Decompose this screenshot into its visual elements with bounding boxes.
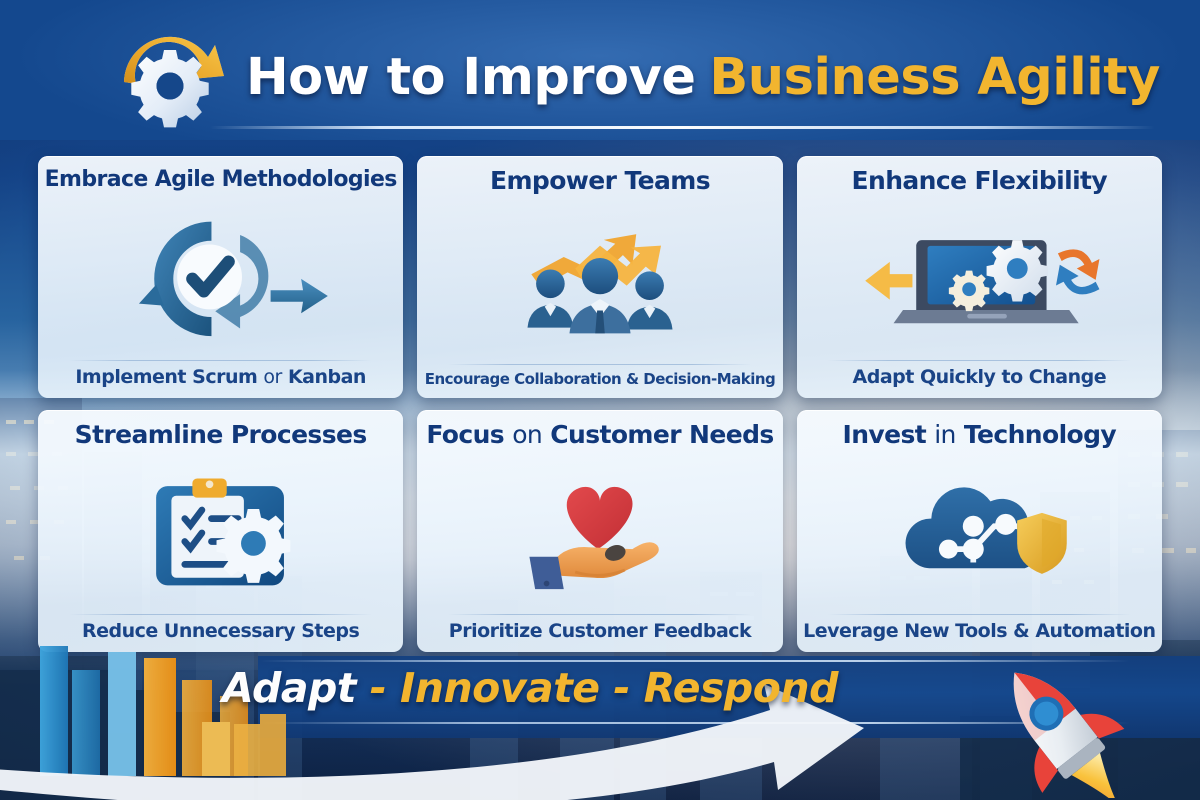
laptop-gears-arrows-icon	[852, 215, 1107, 339]
card-title: Streamline Processes	[75, 422, 367, 448]
card-invest-in-technology[interactable]: Invest in Technology	[797, 410, 1162, 652]
card-illustration	[52, 448, 389, 614]
card-subtitle: Implement Scrum or Kanban	[75, 368, 366, 388]
infographic-root: How to Improve Business Agility Embrace …	[0, 0, 1200, 800]
gear-refresh-cycle-icon	[104, 26, 236, 146]
card-illustration	[811, 194, 1148, 360]
header-divider-rule	[210, 126, 1155, 129]
card-illustration	[52, 191, 389, 360]
tagline-part-gold: - Innovate - Respond	[356, 664, 838, 712]
card-divider	[448, 614, 752, 615]
tagline-part-white: Adapt	[222, 664, 356, 712]
upward-curved-arrow-icon	[0, 636, 1020, 800]
card-divider	[448, 364, 752, 365]
card-subtitle: Encourage Collaboration & Decision-Makin…	[425, 372, 776, 388]
card-embrace-agile-methodologies[interactable]: Embrace Agile Methodologies	[38, 156, 403, 398]
card-divider	[828, 614, 1132, 615]
card-title: Invest in Technology	[843, 422, 1117, 448]
card-focus-on-customer-needs[interactable]: Focus on Customer Needs	[417, 410, 782, 652]
card-divider	[69, 614, 373, 615]
hand-holding-heart-icon	[475, 469, 725, 593]
cloud-network-shield-icon	[854, 469, 1104, 593]
card-illustration	[811, 448, 1148, 614]
card-subtitle: Adapt Quickly to Change	[853, 368, 1107, 388]
card-divider	[828, 360, 1132, 361]
title-part-gold: Business Agility	[709, 48, 1159, 107]
card-illustration	[431, 194, 768, 364]
clipboard-checklist-gear-icon	[96, 469, 346, 593]
card-divider	[69, 360, 373, 361]
cycle-arrows-checkmark-icon	[96, 214, 346, 338]
card-streamline-processes[interactable]: Streamline Processes	[38, 410, 403, 652]
tips-card-grid: Embrace Agile Methodologies	[38, 156, 1162, 652]
card-illustration	[431, 448, 768, 614]
card-enhance-flexibility[interactable]: Enhance Flexibility	[797, 156, 1162, 398]
card-title: Empower Teams	[490, 168, 710, 194]
rocket-launch-icon	[940, 628, 1190, 798]
team-people-growth-arrow-icon	[475, 217, 725, 341]
card-title: Enhance Flexibility	[852, 168, 1108, 194]
card-empower-teams[interactable]: Empower Teams	[417, 156, 782, 398]
card-title: Focus on Customer Needs	[426, 422, 773, 448]
page-title: How to Improve Business Agility	[246, 30, 1160, 124]
card-title: Embrace Agile Methodologies	[45, 168, 397, 191]
footer-tagline: Adapt - Innovate - Respond	[0, 664, 1200, 712]
title-part-white: How to Improve	[246, 48, 695, 107]
